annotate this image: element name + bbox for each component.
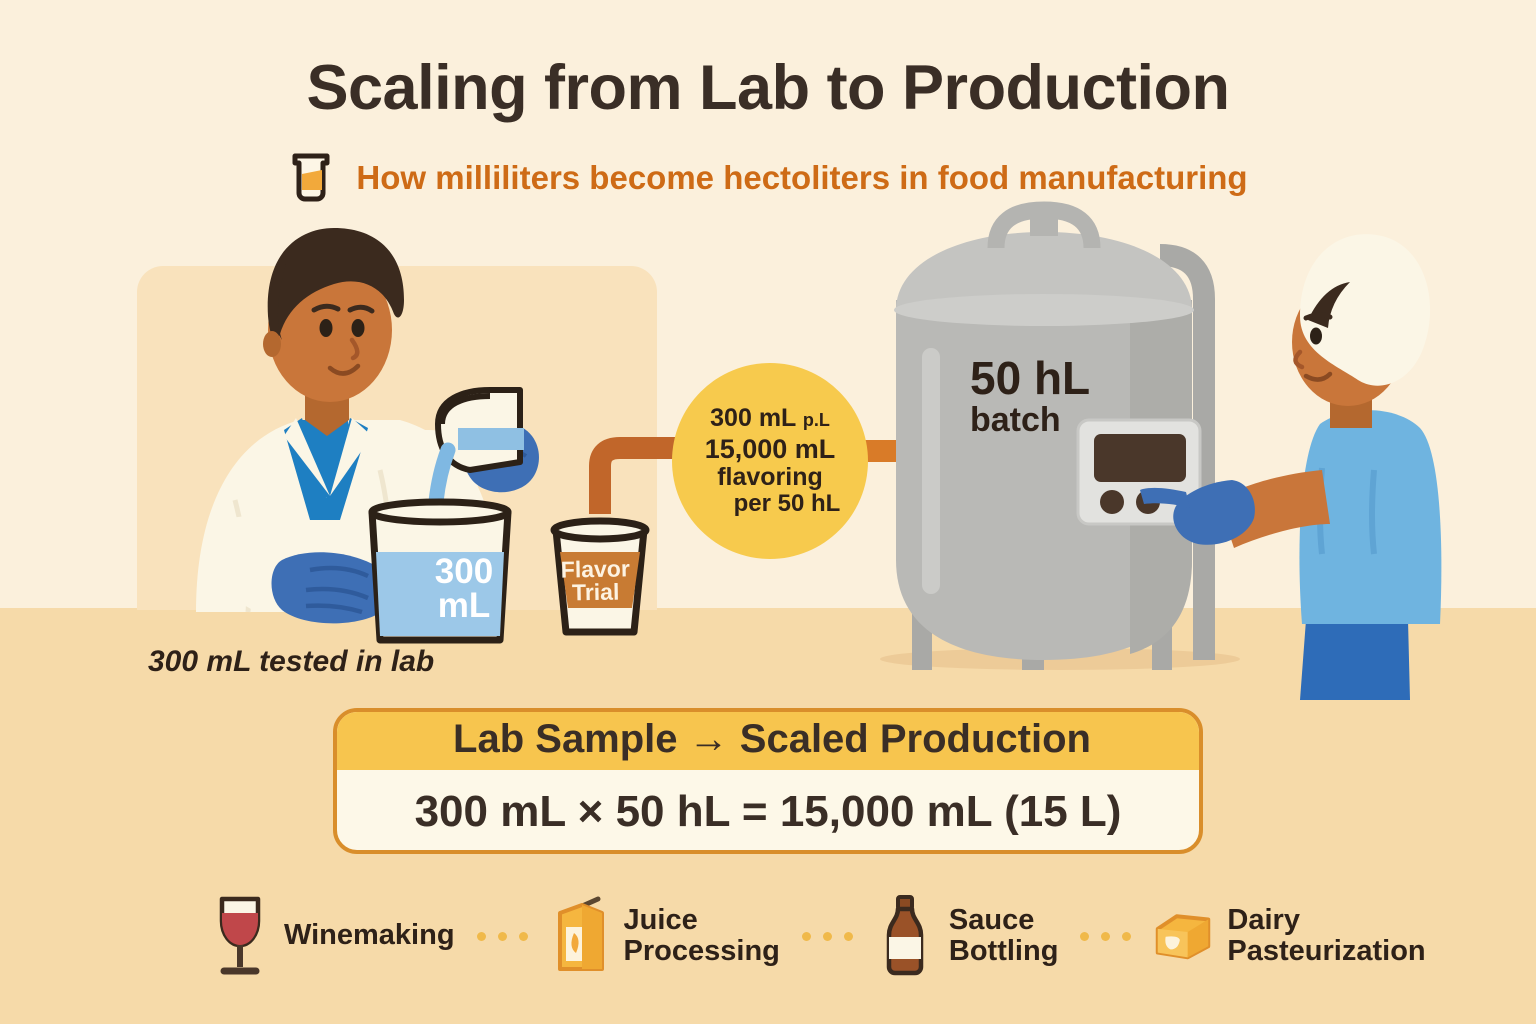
beaker-volume-unit: mL (438, 586, 491, 625)
sauce-bottle-icon (875, 893, 935, 979)
formula-heading: Lab Sample → Scaled Production (337, 708, 1203, 770)
formula-equation: 300 mL × 50 hL = 15,000 mL (15 L) (337, 774, 1199, 850)
beaker-volume-label: 300 mL (404, 555, 524, 624)
usecase-dairy-pasteurization-label: Dairy Pasteurization (1227, 905, 1425, 968)
production-tank (894, 210, 1204, 670)
separator-dot (802, 932, 811, 941)
usecase-row: Winemaking Juice Processing (210, 880, 1530, 992)
usecase-juice-line1: Juice (624, 904, 698, 936)
separator-dot (844, 932, 853, 941)
separator-dot (519, 932, 528, 941)
separator-dot (1080, 932, 1089, 941)
usecase-dairy-line2: Pasteurization (1227, 935, 1425, 967)
tank-capacity-sublabel: batch (970, 403, 1090, 437)
usecase-separator-3 (1080, 932, 1131, 941)
usecase-juice-processing-label: Juice Processing (624, 905, 780, 968)
usecase-dairy-line1: Dairy (1227, 904, 1300, 936)
separator-dot (823, 932, 832, 941)
flavor-cup-label-line2: Trial (572, 579, 620, 606)
ratio-badge-line3: flavoring (717, 464, 823, 491)
usecase-winemaking-label: Winemaking (284, 920, 455, 951)
formula-banner: Lab Sample → Scaled Production 300 mL × … (333, 708, 1203, 854)
tank-capacity-value: 50 hL (970, 352, 1090, 404)
usecase-juice-processing: Juice Processing (550, 893, 780, 979)
wine-glass-icon (210, 893, 270, 979)
usecase-separator-1 (477, 932, 528, 941)
usecase-sauce-line2: Bottling (949, 935, 1059, 967)
flavor-cup-label: Flavor Trial (548, 557, 644, 606)
tank-capacity-label: 50 hL batch (970, 355, 1090, 437)
infographic-canvas: Scaling from Lab to Production How milli… (0, 0, 1536, 1024)
separator-dot (1101, 932, 1110, 941)
separator-dot (1122, 932, 1131, 941)
separator-dot (498, 932, 507, 941)
dairy-carton-icon (1153, 893, 1213, 979)
ratio-badge: 300 mL p.L 15,000 mL flavoring per 50 hL (672, 363, 868, 559)
ratio-badge-line4: per 50 hL (700, 491, 841, 517)
juice-box-icon (550, 893, 610, 979)
usecase-separator-2 (802, 932, 853, 941)
ratio-badge-line1-main: 300 mL (710, 404, 796, 432)
beaker-volume-value: 300 (435, 552, 493, 591)
usecase-sauce-bottling: Sauce Bottling (875, 893, 1059, 979)
usecase-dairy-pasteurization: Dairy Pasteurization (1153, 893, 1425, 979)
lab-caption: 300 mL tested in lab (148, 645, 434, 679)
separator-dot (477, 932, 486, 941)
usecase-juice-line2: Processing (624, 935, 780, 967)
usecase-sauce-bottling-label: Sauce Bottling (949, 905, 1059, 968)
usecase-winemaking-line1: Winemaking (284, 919, 455, 951)
usecase-sauce-line1: Sauce (949, 904, 1034, 936)
ratio-badge-line1: 300 mL p.L (710, 405, 830, 432)
ratio-badge-line1-sub: p.L (803, 410, 830, 430)
ratio-badge-line2: 15,000 mL (705, 435, 836, 464)
usecase-winemaking: Winemaking (210, 893, 455, 979)
